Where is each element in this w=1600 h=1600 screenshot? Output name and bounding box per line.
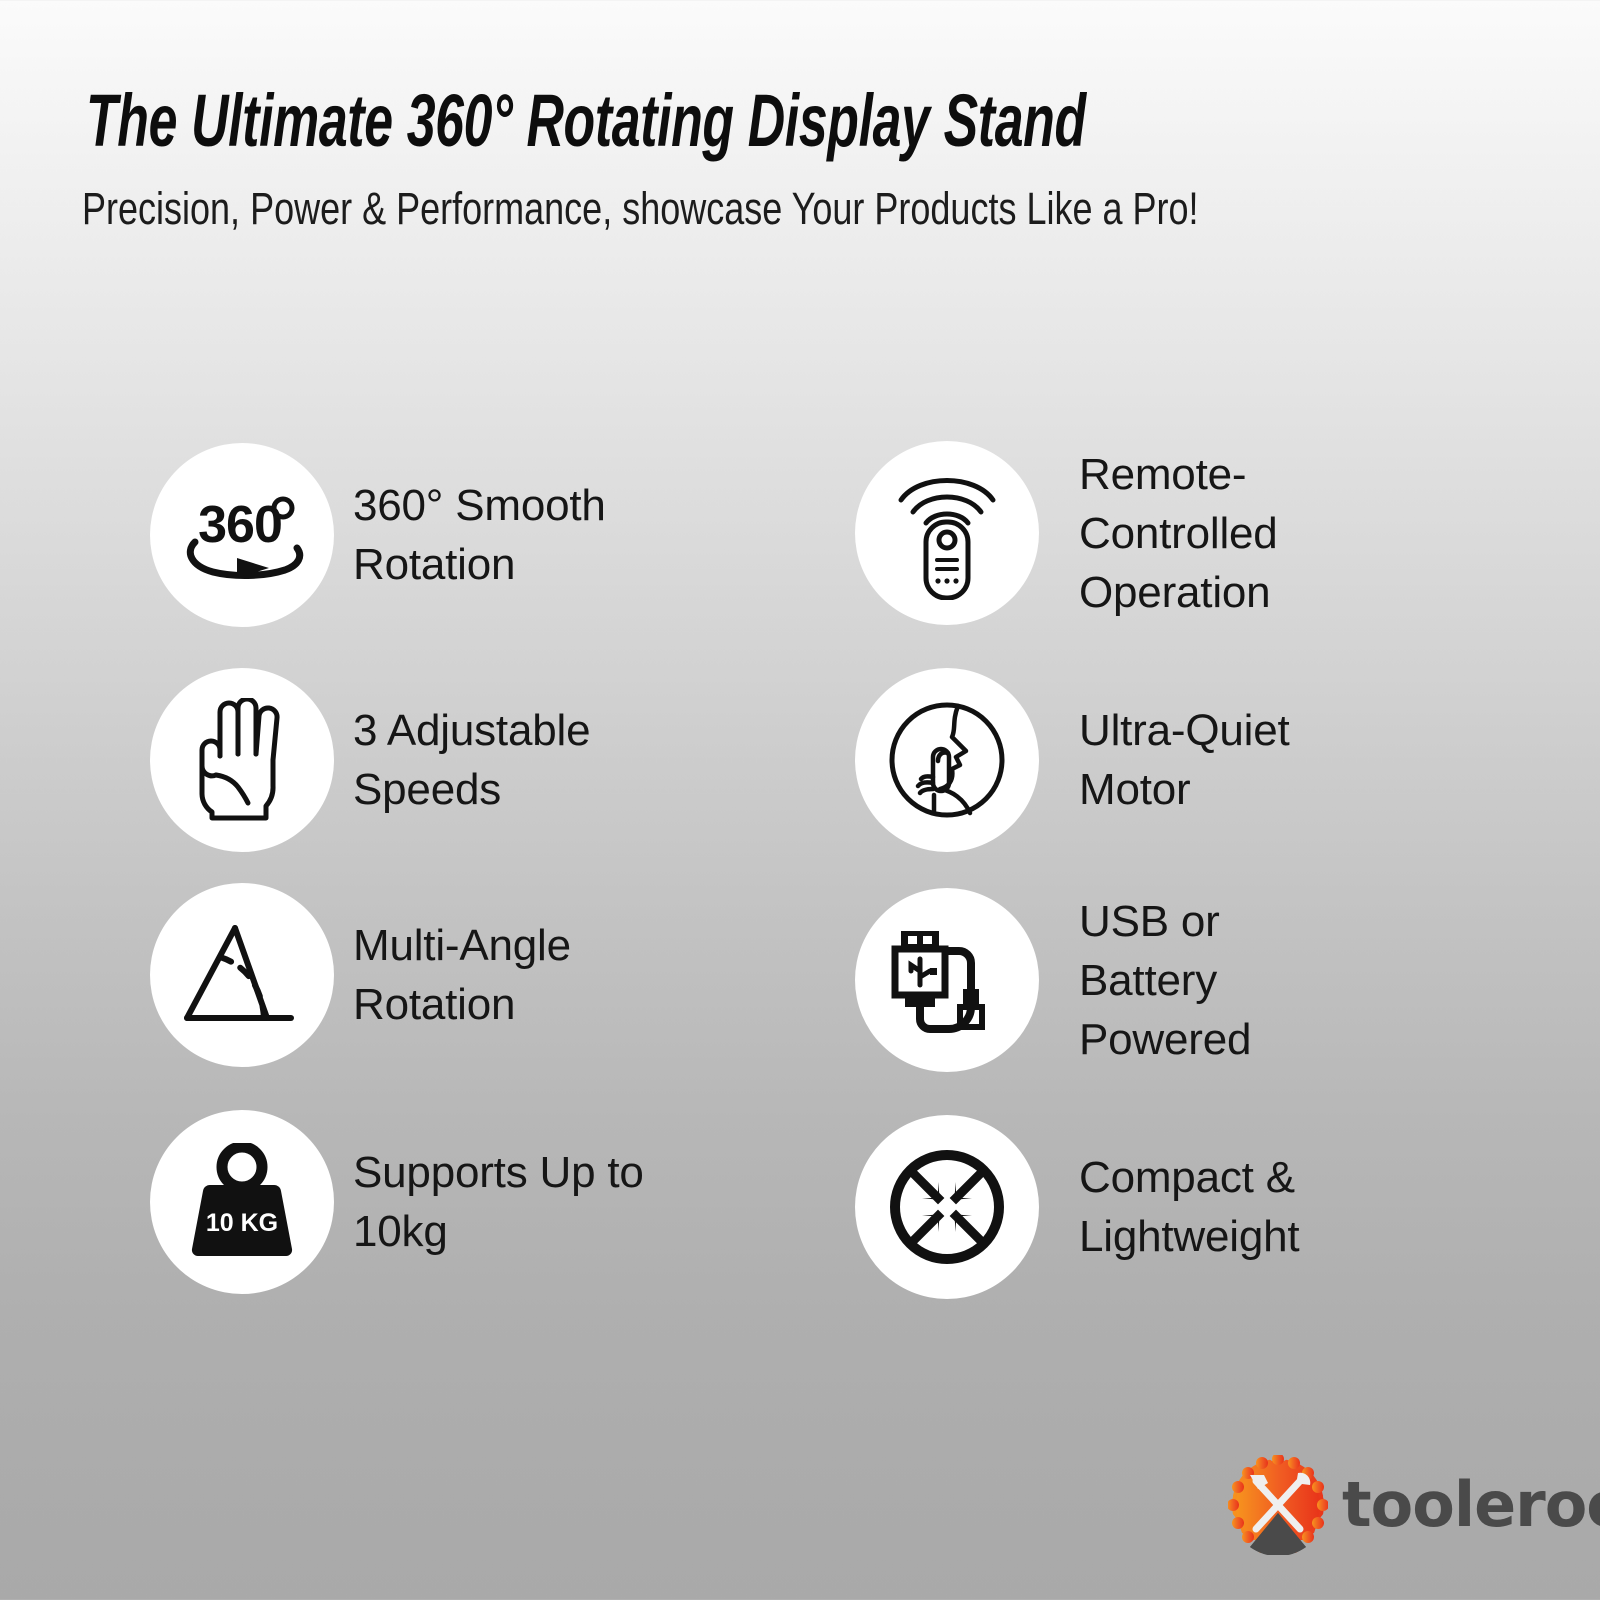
icon-circle: 10 KG bbox=[150, 1110, 334, 1294]
gear-tools-logo-icon bbox=[1228, 1455, 1328, 1555]
usb-cable-icon bbox=[887, 921, 1007, 1039]
feature-item-remote-control: Remote- Controlled Operation bbox=[855, 441, 1278, 625]
feature-item-power-source: USB or Battery Powered bbox=[855, 888, 1251, 1072]
feature-item-weight-capacity: 10 KG Supports Up to 10kg bbox=[150, 1110, 644, 1294]
feature-label: Supports Up to 10kg bbox=[353, 1143, 644, 1261]
icon-circle: 360 bbox=[150, 443, 334, 627]
icon-circle bbox=[855, 888, 1039, 1072]
icon-circle bbox=[855, 1115, 1039, 1299]
logo-wordmark: tooleroo bbox=[1342, 1474, 1600, 1536]
feature-label: Ultra-Quiet Motor bbox=[1079, 701, 1290, 819]
feature-label: USB or Battery Powered bbox=[1079, 892, 1251, 1069]
feature-item-compact-lightweight: Compact & Lightweight bbox=[855, 1115, 1299, 1299]
svg-text:360: 360 bbox=[198, 496, 282, 554]
brand-logo[interactable]: tooleroo bbox=[1228, 1455, 1600, 1555]
feature-item-multi-angle: Multi-Angle Rotation bbox=[150, 883, 571, 1067]
feature-item-360-rotation: 360 360° Smooth Rotation bbox=[150, 443, 606, 627]
remote-control-icon bbox=[893, 466, 1001, 600]
shush-quiet-face-icon bbox=[886, 699, 1008, 821]
feature-label: 3 Adjustable Speeds bbox=[353, 701, 590, 819]
feature-label: Multi-Angle Rotation bbox=[353, 916, 571, 1034]
three-fingers-hand-icon bbox=[190, 698, 294, 822]
weight-badge-label: 10 KG bbox=[206, 1209, 278, 1237]
feature-label: Remote- Controlled Operation bbox=[1079, 445, 1278, 622]
weight-10kg-icon: 10 KG bbox=[186, 1143, 298, 1261]
360-rotation-icon: 360 bbox=[177, 480, 307, 590]
angle-protractor-icon bbox=[179, 920, 305, 1030]
feature-item-ultra-quiet-motor: Ultra-Quiet Motor bbox=[855, 668, 1290, 852]
icon-circle bbox=[855, 441, 1039, 625]
compress-arrows-icon bbox=[886, 1146, 1008, 1268]
icon-circle bbox=[150, 883, 334, 1067]
feature-label: Compact & Lightweight bbox=[1079, 1148, 1299, 1266]
feature-label: 360° Smooth Rotation bbox=[353, 476, 606, 594]
feature-item-adjustable-speeds: 3 Adjustable Speeds bbox=[150, 668, 590, 852]
icon-circle bbox=[855, 668, 1039, 852]
feature-grid: 360 360° Smooth Rotation 3 Adjustable bbox=[0, 0, 1600, 1600]
icon-circle bbox=[150, 668, 334, 852]
